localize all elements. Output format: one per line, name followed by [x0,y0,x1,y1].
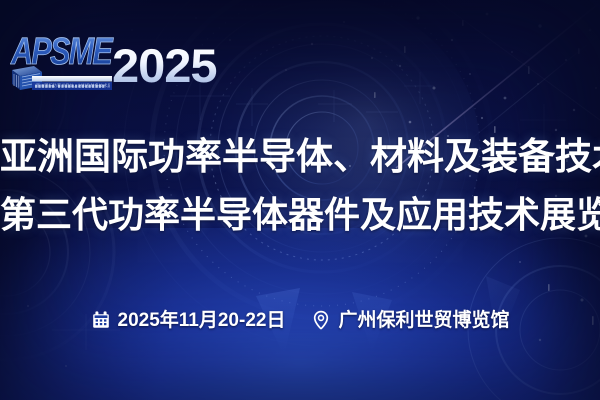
exhibition-banner: APSME 亚洲国际功率半导体、材料及装备技术展览会 2025 [0,0,600,400]
logo-tagline: 亚洲国际功率半导体、材料及装备技术展览会 [36,83,110,91]
event-info-bar: 2025年11月20-22日 广州保利世贸博览馆 [0,310,600,330]
event-venue-text: 广州保利世贸博览馆 [338,311,509,330]
event-logo[interactable]: APSME 亚洲国际功率半导体、材料及装备技术展览会 2025 [10,26,200,96]
calendar-icon [91,310,111,330]
headline-line-1: 亚洲国际功率半导体、材料及装备技术展览会 [0,128,600,186]
svg-text:APSME: APSME [10,31,114,73]
logo-year: 2025 [112,42,217,89]
logo-underline-bar [32,76,112,82]
headline-line-2: 第三代功率半导体器件及应用技术展览会 [0,186,600,244]
event-venue-item: 广州保利世贸博览馆 [311,310,509,330]
headline-block: 亚洲国际功率半导体、材料及装备技术展览会 第三代功率半导体器件及应用技术展览会 [0,128,600,244]
location-pin-icon [311,310,331,330]
event-date-item: 2025年11月20-22日 [91,310,286,330]
event-date-text: 2025年11月20-22日 [118,311,286,330]
